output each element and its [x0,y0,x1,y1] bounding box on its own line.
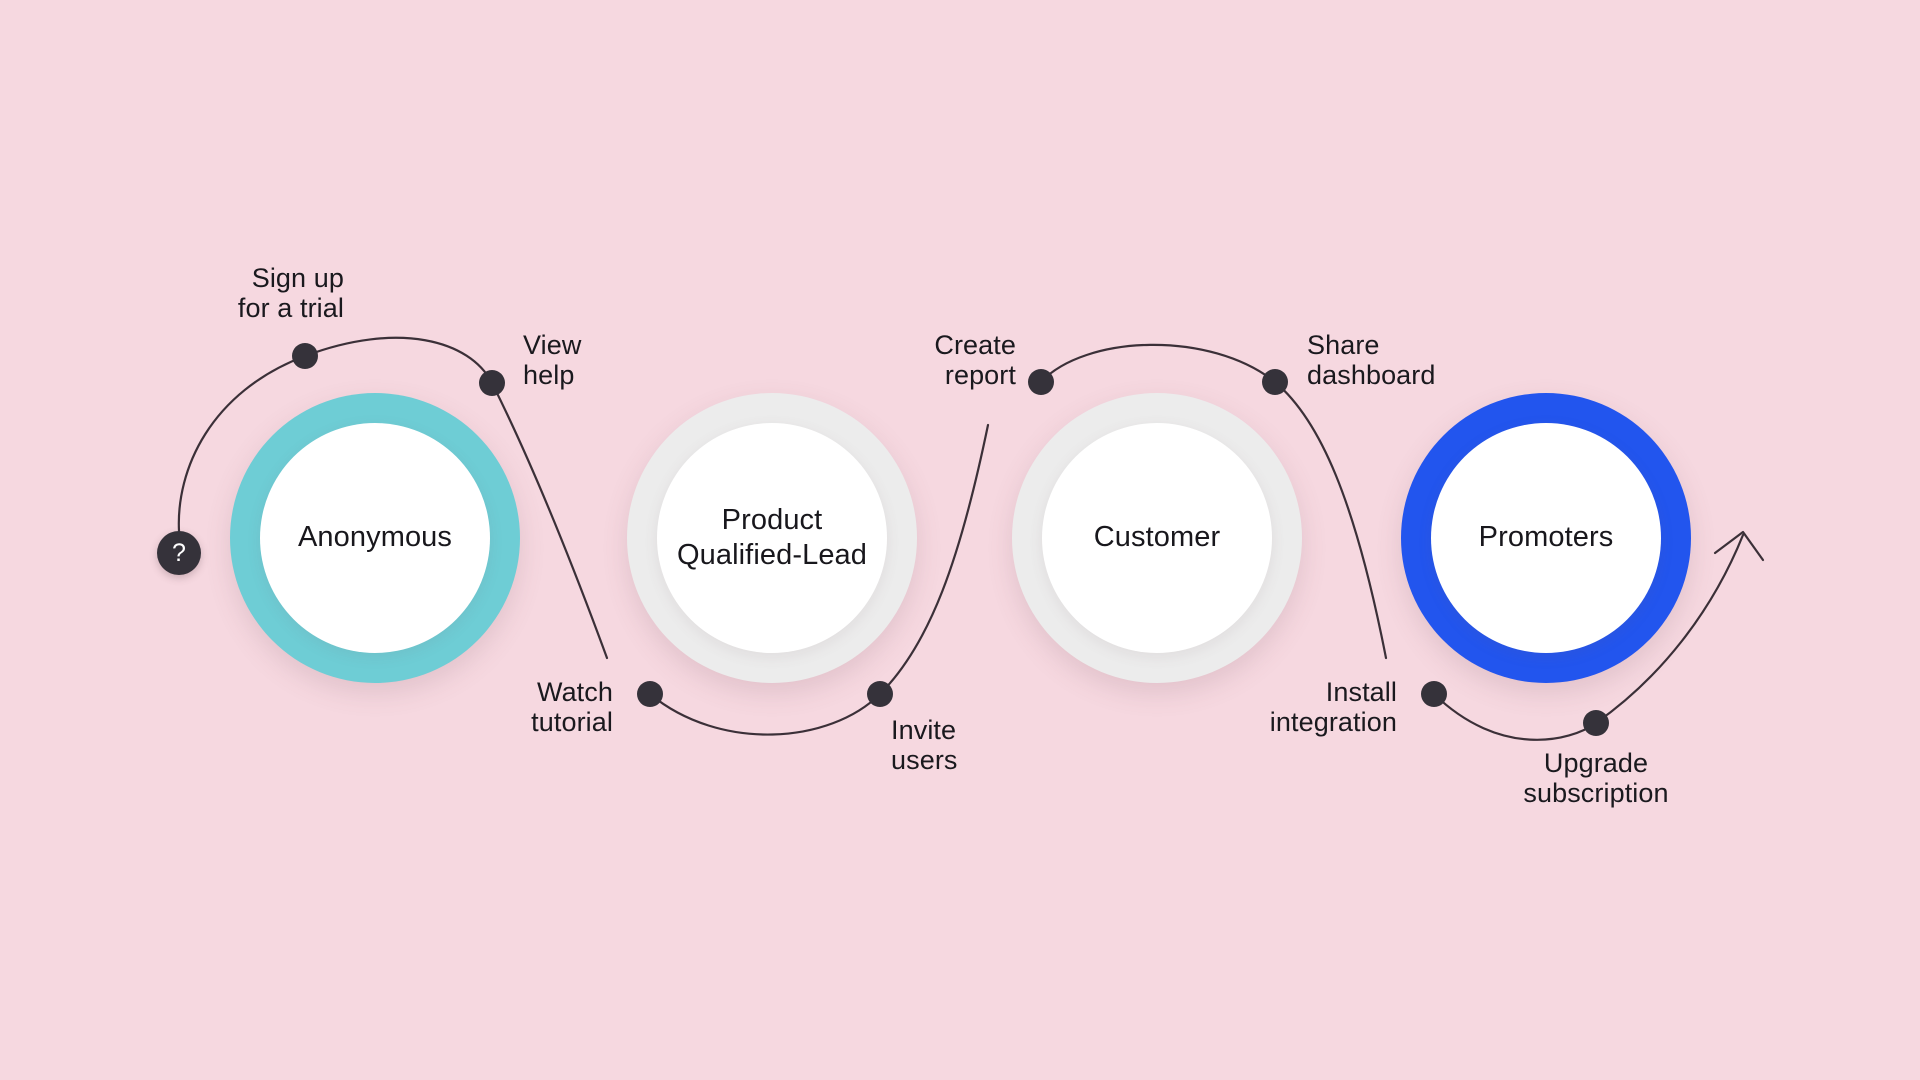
event-label-create-report[interactable]: Create report [746,331,1016,390]
event-dot-upgrade-subscription[interactable] [1583,710,1609,736]
event-dot-sign-up-for-a-trial[interactable] [292,343,318,369]
stage-anonymous-inner: Anonymous [260,423,490,653]
stage-customer[interactable]: Customer [1012,393,1302,683]
event-label-watch-tutorial[interactable]: Watch tutorial [323,678,613,737]
stage-product-qualified-lead[interactable]: Product Qualified-Lead [627,393,917,683]
stage-promoters-inner: Promoters [1431,423,1661,653]
question-mark-icon: ? [172,541,186,566]
journey-diagram-canvas: ? Anonymous Product Qualified-Lead Custo… [0,0,1920,1080]
event-label-view-help[interactable]: View help [523,331,743,390]
event-label-upgrade-subscription[interactable]: Upgrade subscription [1446,749,1746,808]
stage-customer-inner: Customer [1042,423,1272,653]
event-label-sign-up-for-a-trial[interactable]: Sign up for a trial [44,264,344,323]
event-label-invite-users[interactable]: Invite users [891,716,1111,775]
event-label-share-dashboard[interactable]: Share dashboard [1307,331,1567,390]
stage-product-qualified-lead-label: Product Qualified-Lead [677,503,867,574]
event-dot-invite-users[interactable] [867,681,893,707]
event-dot-share-dashboard[interactable] [1262,369,1288,395]
event-dot-view-help[interactable] [479,370,505,396]
stage-promoters[interactable]: Promoters [1401,393,1691,683]
stage-customer-label: Customer [1094,520,1221,555]
event-dot-create-report[interactable] [1028,369,1054,395]
unknown-source-badge[interactable]: ? [157,531,201,575]
event-dot-install-integration[interactable] [1421,681,1447,707]
stage-anonymous[interactable]: Anonymous [230,393,520,683]
event-label-install-integration[interactable]: Install integration [1107,678,1397,737]
stage-anonymous-label: Anonymous [298,520,452,555]
stage-promoters-label: Promoters [1479,520,1614,555]
event-dot-watch-tutorial[interactable] [637,681,663,707]
stage-product-qualified-lead-inner: Product Qualified-Lead [657,423,887,653]
